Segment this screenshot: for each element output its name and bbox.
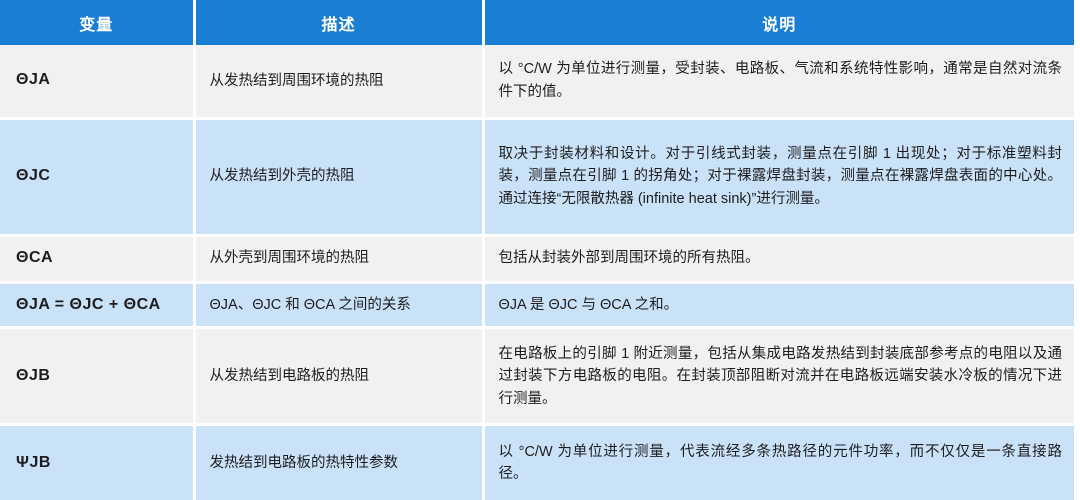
cell-description: 从发热结到外壳的热阻 bbox=[194, 118, 483, 235]
cell-note: 以 °C/W 为单位进行测量，受封装、电路板、气流和系统特性影响，通常是自然对流… bbox=[483, 45, 1074, 118]
table-header-row: 变量 描述 说明 bbox=[0, 0, 1074, 45]
table-row: ΘCA 从外壳到周围环境的热阻 包括从封装外部到周围环境的所有热阻。 bbox=[0, 235, 1074, 282]
table-row: ΘJA 从发热结到周围环境的热阻 以 °C/W 为单位进行测量，受封装、电路板、… bbox=[0, 45, 1074, 118]
cell-variable: ΘJB bbox=[0, 328, 194, 425]
thermal-resistance-table: 变量 描述 说明 ΘJA 从发热结到周围环境的热阻 以 °C/W 为单位进行测量… bbox=[0, 0, 1074, 500]
table-header: 变量 描述 说明 bbox=[0, 0, 1074, 45]
cell-description: 从外壳到周围环境的热阻 bbox=[194, 235, 483, 282]
cell-note: 包括从封装外部到周围环境的所有热阻。 bbox=[483, 235, 1074, 282]
cell-note: ΘJA 是 ΘJC 与 ΘCA 之和。 bbox=[483, 282, 1074, 328]
cell-variable: ΨJB bbox=[0, 425, 194, 500]
cell-variable: ΘJC bbox=[0, 118, 194, 235]
cell-note: 取决于封装材料和设计。对于引线式封装，测量点在引脚 1 出现处；对于标准塑料封装… bbox=[483, 118, 1074, 235]
cell-description: 从发热结到周围环境的热阻 bbox=[194, 45, 483, 118]
cell-variable: ΘJA = ΘJC + ΘCA bbox=[0, 282, 194, 328]
thermal-resistance-table-container: 变量 描述 说明 ΘJA 从发热结到周围环境的热阻 以 °C/W 为单位进行测量… bbox=[0, 0, 1074, 490]
cell-description: 从发热结到电路板的热阻 bbox=[194, 328, 483, 425]
column-header-description: 描述 bbox=[194, 0, 483, 45]
cell-note: 以 °C/W 为单位进行测量，代表流经多条热路径的元件功率，而不仅仅是一条直接路… bbox=[483, 425, 1074, 500]
cell-description: 发热结到电路板的热特性参数 bbox=[194, 425, 483, 500]
table-row: ΘJC 从发热结到外壳的热阻 取决于封装材料和设计。对于引线式封装，测量点在引脚… bbox=[0, 118, 1074, 235]
table-row: ΘJB 从发热结到电路板的热阻 在电路板上的引脚 1 附近测量，包括从集成电路发… bbox=[0, 328, 1074, 425]
cell-variable: ΘJA bbox=[0, 45, 194, 118]
cell-note: 在电路板上的引脚 1 附近测量，包括从集成电路发热结到封装底部参考点的电阻以及通… bbox=[483, 328, 1074, 425]
table-row: ΘJA = ΘJC + ΘCA ΘJA、ΘJC 和 ΘCA 之间的关系 ΘJA … bbox=[0, 282, 1074, 328]
cell-description: ΘJA、ΘJC 和 ΘCA 之间的关系 bbox=[194, 282, 483, 328]
table-row: ΨJB 发热结到电路板的热特性参数 以 °C/W 为单位进行测量，代表流经多条热… bbox=[0, 425, 1074, 500]
column-header-note: 说明 bbox=[483, 0, 1074, 45]
table-body: ΘJA 从发热结到周围环境的热阻 以 °C/W 为单位进行测量，受封装、电路板、… bbox=[0, 45, 1074, 500]
cell-variable: ΘCA bbox=[0, 235, 194, 282]
column-header-variable: 变量 bbox=[0, 0, 194, 45]
